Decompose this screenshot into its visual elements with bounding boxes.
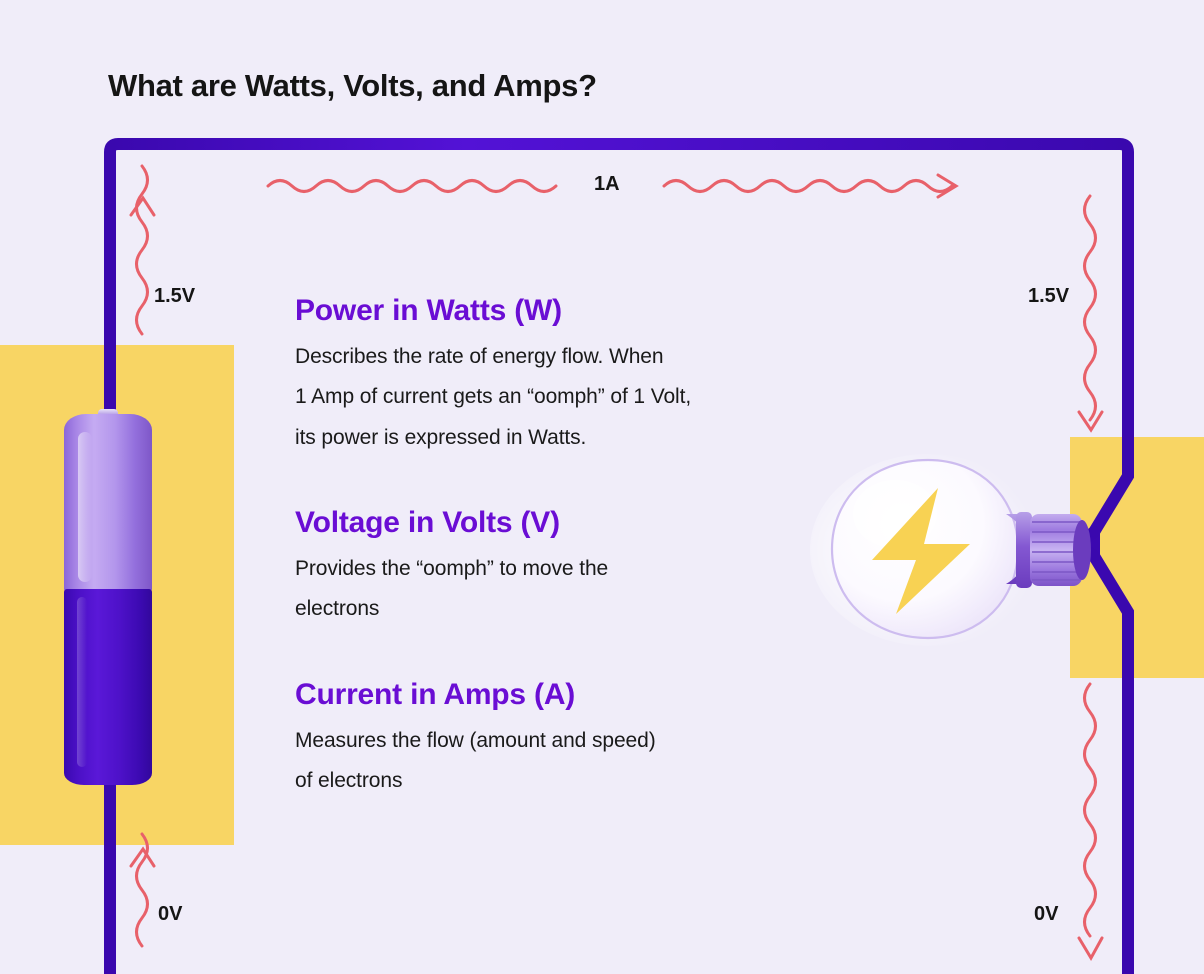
flow-ground-left-arrowhead	[131, 849, 154, 866]
flow-ground-right-wave	[1085, 684, 1096, 936]
definition-amps-body: Measures the flow (amount and speed) of …	[295, 721, 895, 802]
definition-watts-heading: Power in Watts (W)	[295, 294, 895, 328]
flow-current-left-wave	[268, 181, 556, 192]
definition-volts: Voltage in Volts (V) Provides the “oomph…	[295, 506, 895, 630]
definition-volts-heading: Voltage in Volts (V)	[295, 506, 895, 540]
label-ground-left: 0V	[158, 903, 182, 926]
label-current-amps: 1A	[594, 173, 620, 196]
flow-ground-right-arrowhead	[1079, 938, 1102, 958]
flow-current-arrowhead	[938, 175, 956, 197]
definition-amps-line-2: of electrons	[295, 761, 895, 801]
battery-cap	[64, 414, 152, 592]
flow-ground-left-wave	[137, 834, 148, 946]
label-voltage-left: 1.5V	[154, 285, 195, 308]
label-voltage-right: 1.5V	[1028, 285, 1069, 308]
definition-watts-line-3: its power is expressed in Watts.	[295, 418, 895, 458]
flow-current-right-wave	[664, 181, 952, 192]
definition-watts: Power in Watts (W) Describes the rate of…	[295, 294, 895, 458]
definition-volts-body: Provides the “oomph” to move the electro…	[295, 549, 895, 630]
battery-casing	[64, 589, 152, 785]
definition-amps-heading: Current in Amps (A)	[295, 678, 895, 712]
battery-component	[64, 409, 152, 785]
flow-voltage-right-arrowhead	[1079, 412, 1102, 430]
definition-watts-line-2: 1 Amp of current gets an “oomph” of 1 Vo…	[295, 377, 895, 417]
page-title: What are Watts, Volts, and Amps?	[108, 68, 597, 104]
bulb-neck-collar	[1016, 512, 1032, 588]
battery-casing-highlight	[77, 597, 87, 767]
flow-voltage-left-wave	[137, 166, 148, 334]
definition-watts-line-1: Describes the rate of energy flow. When	[295, 337, 895, 377]
definition-volts-line-2: electrons	[295, 589, 895, 629]
battery-cap-highlight	[78, 432, 92, 582]
definition-amps-line-1: Measures the flow (amount and speed)	[295, 721, 895, 761]
flow-voltage-left-arrowhead	[131, 198, 154, 215]
definition-watts-body: Describes the rate of energy flow. When …	[295, 337, 895, 458]
definition-volts-line-1: Provides the “oomph” to move the	[295, 549, 895, 589]
definition-amps: Current in Amps (A) Measures the flow (a…	[295, 678, 895, 802]
bulb-base-tip	[1073, 520, 1091, 580]
flow-voltage-right-wave	[1085, 196, 1096, 420]
definitions-list: Power in Watts (W) Describes the rate of…	[295, 294, 895, 801]
label-ground-right: 0V	[1034, 903, 1058, 926]
